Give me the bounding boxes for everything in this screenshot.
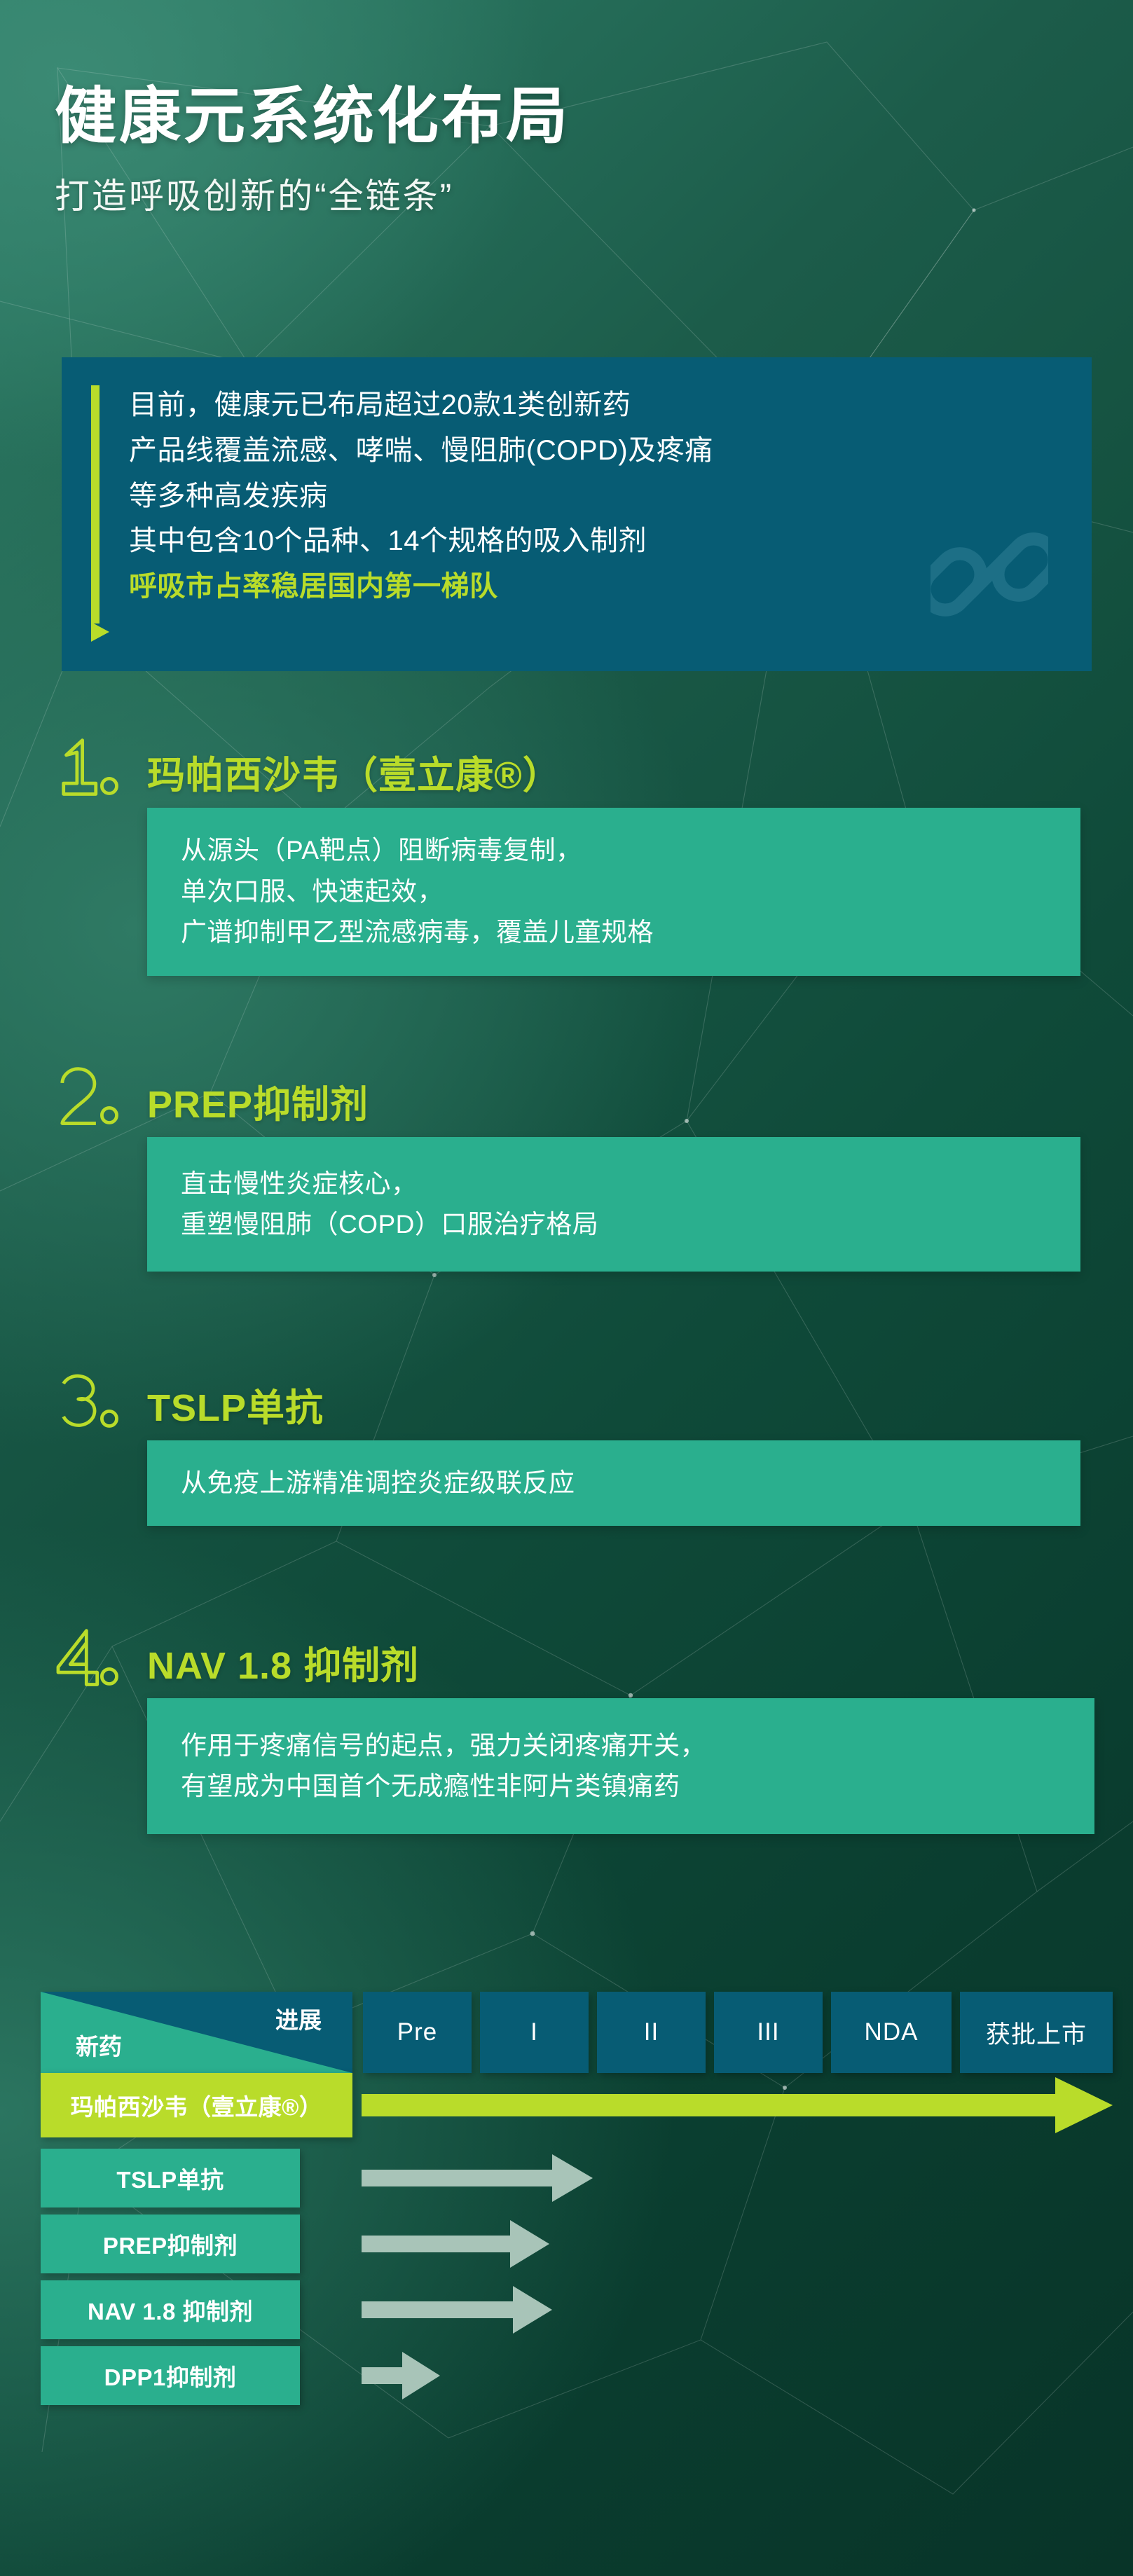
pipeline-row: DPP1抑制剂 bbox=[41, 2346, 1113, 2412]
section-1-body-box: 从源头（PA靶点）阻断病毒复制， 单次口服、快速起效， 广谱抑制甲乙型流感病毒，… bbox=[147, 808, 1080, 976]
section-4-body-line: 有望成为中国首个无成瘾性非阿片类镇痛药 bbox=[147, 1766, 706, 1807]
section-3: TSLP单抗 从免疫上游精准调控炎症级联反应 bbox=[42, 1372, 1093, 1436]
pipeline-stage-iii[interactable]: III bbox=[714, 1992, 823, 2073]
pipeline-stage-ii[interactable]: II bbox=[597, 1992, 706, 2073]
intro-text-block: 目前，健康元已布局超过20款1类创新药 产品线覆盖流感、哮喘、慢阻肺(COPD)… bbox=[129, 383, 959, 609]
accent-arrow-bar bbox=[91, 385, 99, 624]
pipeline-progress-arrow bbox=[362, 2073, 1113, 2137]
section-2-body-box: 直击慢性炎症核心， 重塑慢阻肺（COPD）口服治疗格局 bbox=[147, 1137, 1080, 1272]
pipeline-drug-name[interactable]: 玛帕西沙韦（壹立康®） bbox=[41, 2073, 352, 2137]
section-2-title: PREP抑制剂 bbox=[147, 1073, 369, 1129]
section-3-title: TSLP单抗 bbox=[147, 1377, 324, 1432]
pipeline-row: NAV 1.8 抑制剂 bbox=[41, 2280, 1113, 2346]
pipeline-drug-name[interactable]: DPP1抑制剂 bbox=[41, 2346, 300, 2405]
section-1-body-line: 广谱抑制甲乙型流感病毒，覆盖儿童规格 bbox=[147, 912, 654, 953]
pipeline-header-row: 新药 进展 Pre I II III NDA 获批上市 bbox=[41, 1992, 1113, 2073]
intro-line: 产品线覆盖流感、哮喘、慢阻肺(COPD)及疼痛 bbox=[129, 428, 959, 474]
intro-line: 等多种高发疾病 bbox=[129, 474, 959, 519]
numeral-2-icon bbox=[50, 1064, 133, 1131]
pipeline-stage-approved[interactable]: 获批上市 bbox=[960, 1992, 1113, 2073]
intro-highlight-line: 呼吸市占率稳居国内第一梯队 bbox=[129, 564, 959, 609]
numeral-3-icon bbox=[50, 1368, 133, 1435]
infographic-poster: 健康元系统化布局 打造呼吸创新的“全链条” 目前，健康元已布局超过20款1类创新… bbox=[0, 0, 1133, 2576]
pipeline-row: 玛帕西沙韦（壹立康®） bbox=[41, 2073, 1113, 2149]
page-subtitle: 打造呼吸创新的“全链条” bbox=[55, 168, 966, 219]
pipeline-row: TSLP单抗 bbox=[41, 2149, 1113, 2215]
section-4-title: NAV 1.8 抑制剂 bbox=[147, 1634, 419, 1690]
section-1-title: 玛帕西沙韦（壹立康®） bbox=[147, 744, 561, 799]
corner-col-label: 进展 bbox=[275, 2002, 322, 2035]
page-title: 健康元系统化布局 bbox=[55, 84, 966, 149]
section-2-body-line: 直击慢性炎症核心， bbox=[147, 1164, 598, 1204]
section-1: 玛帕西沙韦（壹立康®） 从源头（PA靶点）阻断病毒复制， 单次口服、快速起效， … bbox=[42, 739, 1093, 804]
pipeline-stage-nda[interactable]: NDA bbox=[831, 1992, 952, 2073]
section-4: NAV 1.8 抑制剂 作用于疼痛信号的起点，强力关闭疼痛开关， 有望成为中国首… bbox=[42, 1630, 1093, 1694]
intro-line: 其中包含10个品种、14个规格的吸入制剂 bbox=[129, 518, 959, 564]
section-4-body-line: 作用于疼痛信号的起点，强力关闭疼痛开关， bbox=[147, 1726, 706, 1766]
pipeline-row: PREP抑制剂 bbox=[41, 2215, 1113, 2280]
section-1-body-line: 从源头（PA靶点）阻断病毒复制， bbox=[147, 830, 654, 871]
intro-line: 目前，健康元已布局超过20款1类创新药 bbox=[129, 383, 959, 428]
poster-header: 健康元系统化布局 打造呼吸创新的“全链条” bbox=[55, 84, 966, 219]
pipeline-progress-arrow bbox=[362, 2149, 593, 2207]
section-3-body-line: 从免疫上游精准调控炎症级联反应 bbox=[147, 1463, 575, 1503]
pipeline-progress-arrow bbox=[362, 2280, 552, 2339]
section-2-body-line: 重塑慢阻肺（COPD）口服治疗格局 bbox=[147, 1204, 598, 1245]
pipeline-stage-i[interactable]: I bbox=[480, 1992, 589, 2073]
section-4-body-box: 作用于疼痛信号的起点，强力关闭疼痛开关， 有望成为中国首个无成瘾性非阿片类镇痛药 bbox=[147, 1698, 1094, 1834]
numeral-1-icon bbox=[50, 735, 133, 802]
pipeline-progress-arrow bbox=[362, 2215, 549, 2273]
section-1-body-line: 单次口服、快速起效， bbox=[147, 872, 654, 912]
pipeline-drug-name[interactable]: PREP抑制剂 bbox=[41, 2215, 300, 2273]
intro-panel: 目前，健康元已布局超过20款1类创新药 产品线覆盖流感、哮喘、慢阻肺(COPD)… bbox=[62, 357, 1092, 671]
corner-row-label: 新药 bbox=[76, 2028, 122, 2062]
numeral-4-icon bbox=[50, 1625, 133, 1693]
section-2: PREP抑制剂 直击慢性炎症核心， 重塑慢阻肺（COPD）口服治疗格局 bbox=[42, 1068, 1093, 1133]
pipeline-table: 新药 进展 Pre I II III NDA 获批上市 玛帕西沙韦（壹立康®） … bbox=[41, 1992, 1113, 2412]
pipeline-corner-cell: 新药 进展 bbox=[41, 1992, 352, 2073]
pipeline-drug-name[interactable]: NAV 1.8 抑制剂 bbox=[41, 2280, 300, 2339]
section-3-body-box: 从免疫上游精准调控炎症级联反应 bbox=[147, 1440, 1080, 1526]
pipeline-stage-pre[interactable]: Pre bbox=[363, 1992, 472, 2073]
pipeline-progress-arrow bbox=[362, 2346, 440, 2405]
pipeline-drug-name[interactable]: TSLP单抗 bbox=[41, 2149, 300, 2207]
